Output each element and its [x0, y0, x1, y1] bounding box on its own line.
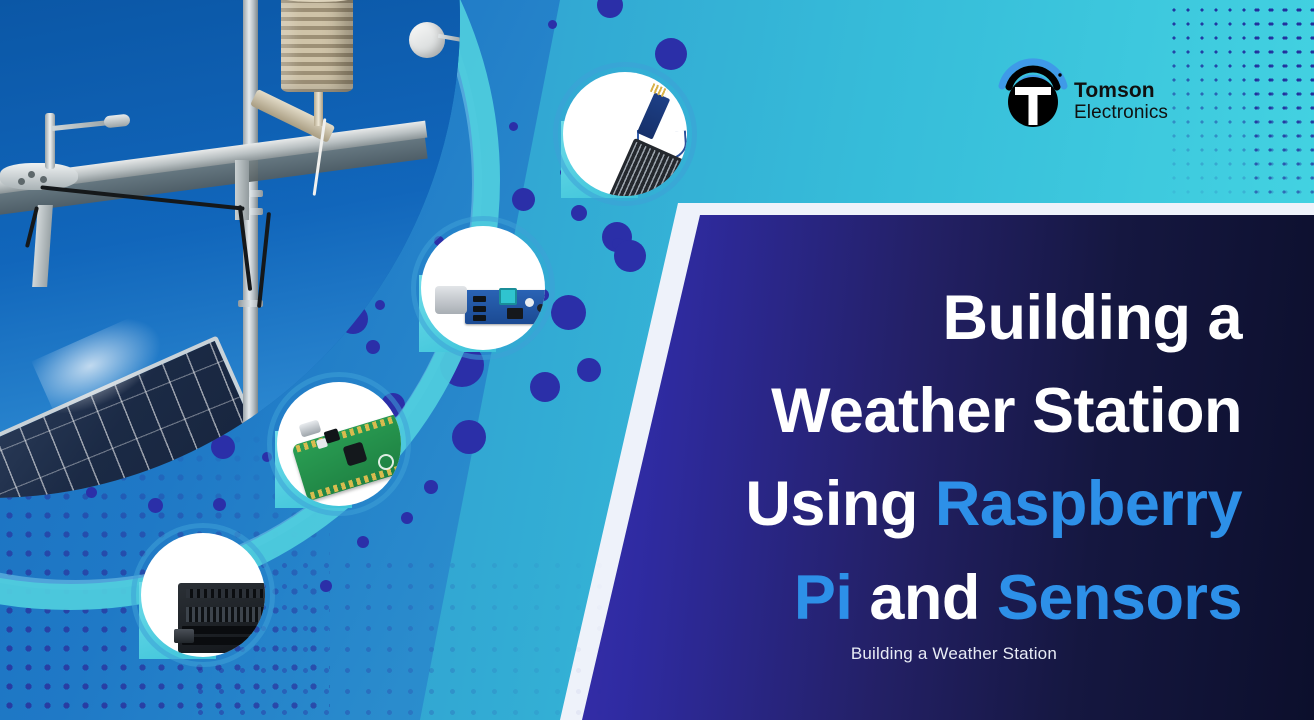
decor-circle	[512, 188, 535, 211]
radiation-shield	[281, 0, 353, 92]
resistor	[473, 315, 486, 321]
anemometer-port	[40, 176, 47, 183]
resistor	[473, 306, 486, 312]
pin-header	[182, 626, 265, 634]
decor-circle	[530, 372, 560, 402]
trim-potentiometer	[499, 288, 517, 305]
title-line-3: Using Raspberry	[622, 458, 1242, 551]
brand-logo[interactable]: Tomson Electronics	[996, 56, 1166, 136]
comparator-ic	[507, 308, 523, 319]
decor-circle	[551, 295, 586, 330]
indicator-led	[525, 298, 534, 307]
micro-usb-port	[299, 419, 322, 437]
brand-name-line1: Tomson	[1074, 80, 1168, 101]
pin-header	[182, 637, 265, 645]
tomson-wifi-t-logo-icon	[996, 56, 1070, 130]
product-bubble-sound-sensor[interactable]	[421, 226, 545, 350]
decor-circle	[401, 512, 413, 524]
title-line-1: Building a	[622, 272, 1242, 365]
bubble-disc	[141, 533, 265, 657]
microphone-capsule	[435, 286, 467, 314]
anemometer-port	[18, 178, 25, 185]
bubble-disc	[277, 382, 401, 506]
wind-vane-post	[45, 113, 55, 169]
title-line-3-accent: Raspberry	[935, 469, 1242, 539]
dip-socket	[186, 607, 265, 622]
brand-name-line2: Electronics	[1074, 103, 1168, 122]
page-subtitle: Building a Weather Station	[851, 644, 1057, 664]
bubble-disc	[563, 72, 687, 196]
anemometer-body	[0, 163, 78, 190]
product-bubble-rain-sensor[interactable]	[563, 72, 687, 196]
decor-circle	[320, 580, 332, 592]
indicator-led	[537, 304, 545, 312]
title-line-2: Weather Station	[622, 365, 1242, 458]
decor-circle	[509, 122, 518, 131]
white-dish-sensor	[409, 22, 445, 58]
decor-circle	[452, 420, 486, 454]
top-pin-header	[186, 589, 265, 598]
title-line-4-plain: and	[852, 563, 997, 633]
usb-connector	[174, 629, 194, 643]
decor-circle	[577, 358, 601, 382]
title-line-4: Pi and Sensors	[622, 552, 1242, 645]
decor-circle	[424, 480, 438, 494]
decor-circle	[614, 240, 646, 272]
decor-circle	[357, 536, 369, 548]
resistor	[473, 296, 486, 302]
anemometer-port	[28, 171, 35, 178]
brand-wordmark: Tomson Electronics	[1074, 80, 1168, 122]
bubble-disc	[421, 226, 545, 350]
page-title: Building a Weather Station Using Raspber…	[622, 272, 1242, 645]
product-bubble-expansion-board[interactable]	[141, 533, 265, 657]
title-line-4-accent-2: Sensors	[997, 563, 1242, 633]
product-bubble-raspberry-pi-pico[interactable]	[277, 382, 401, 506]
decor-circle	[571, 205, 587, 221]
radiation-shield-stem	[314, 92, 323, 126]
title-line-3-plain: Using	[745, 469, 935, 539]
banner-root: Tomson Electronics Building a Weather St…	[0, 0, 1314, 720]
decor-circle	[548, 20, 557, 29]
decor-circle	[655, 38, 687, 70]
title-line-4-accent-1: Pi	[794, 563, 853, 633]
